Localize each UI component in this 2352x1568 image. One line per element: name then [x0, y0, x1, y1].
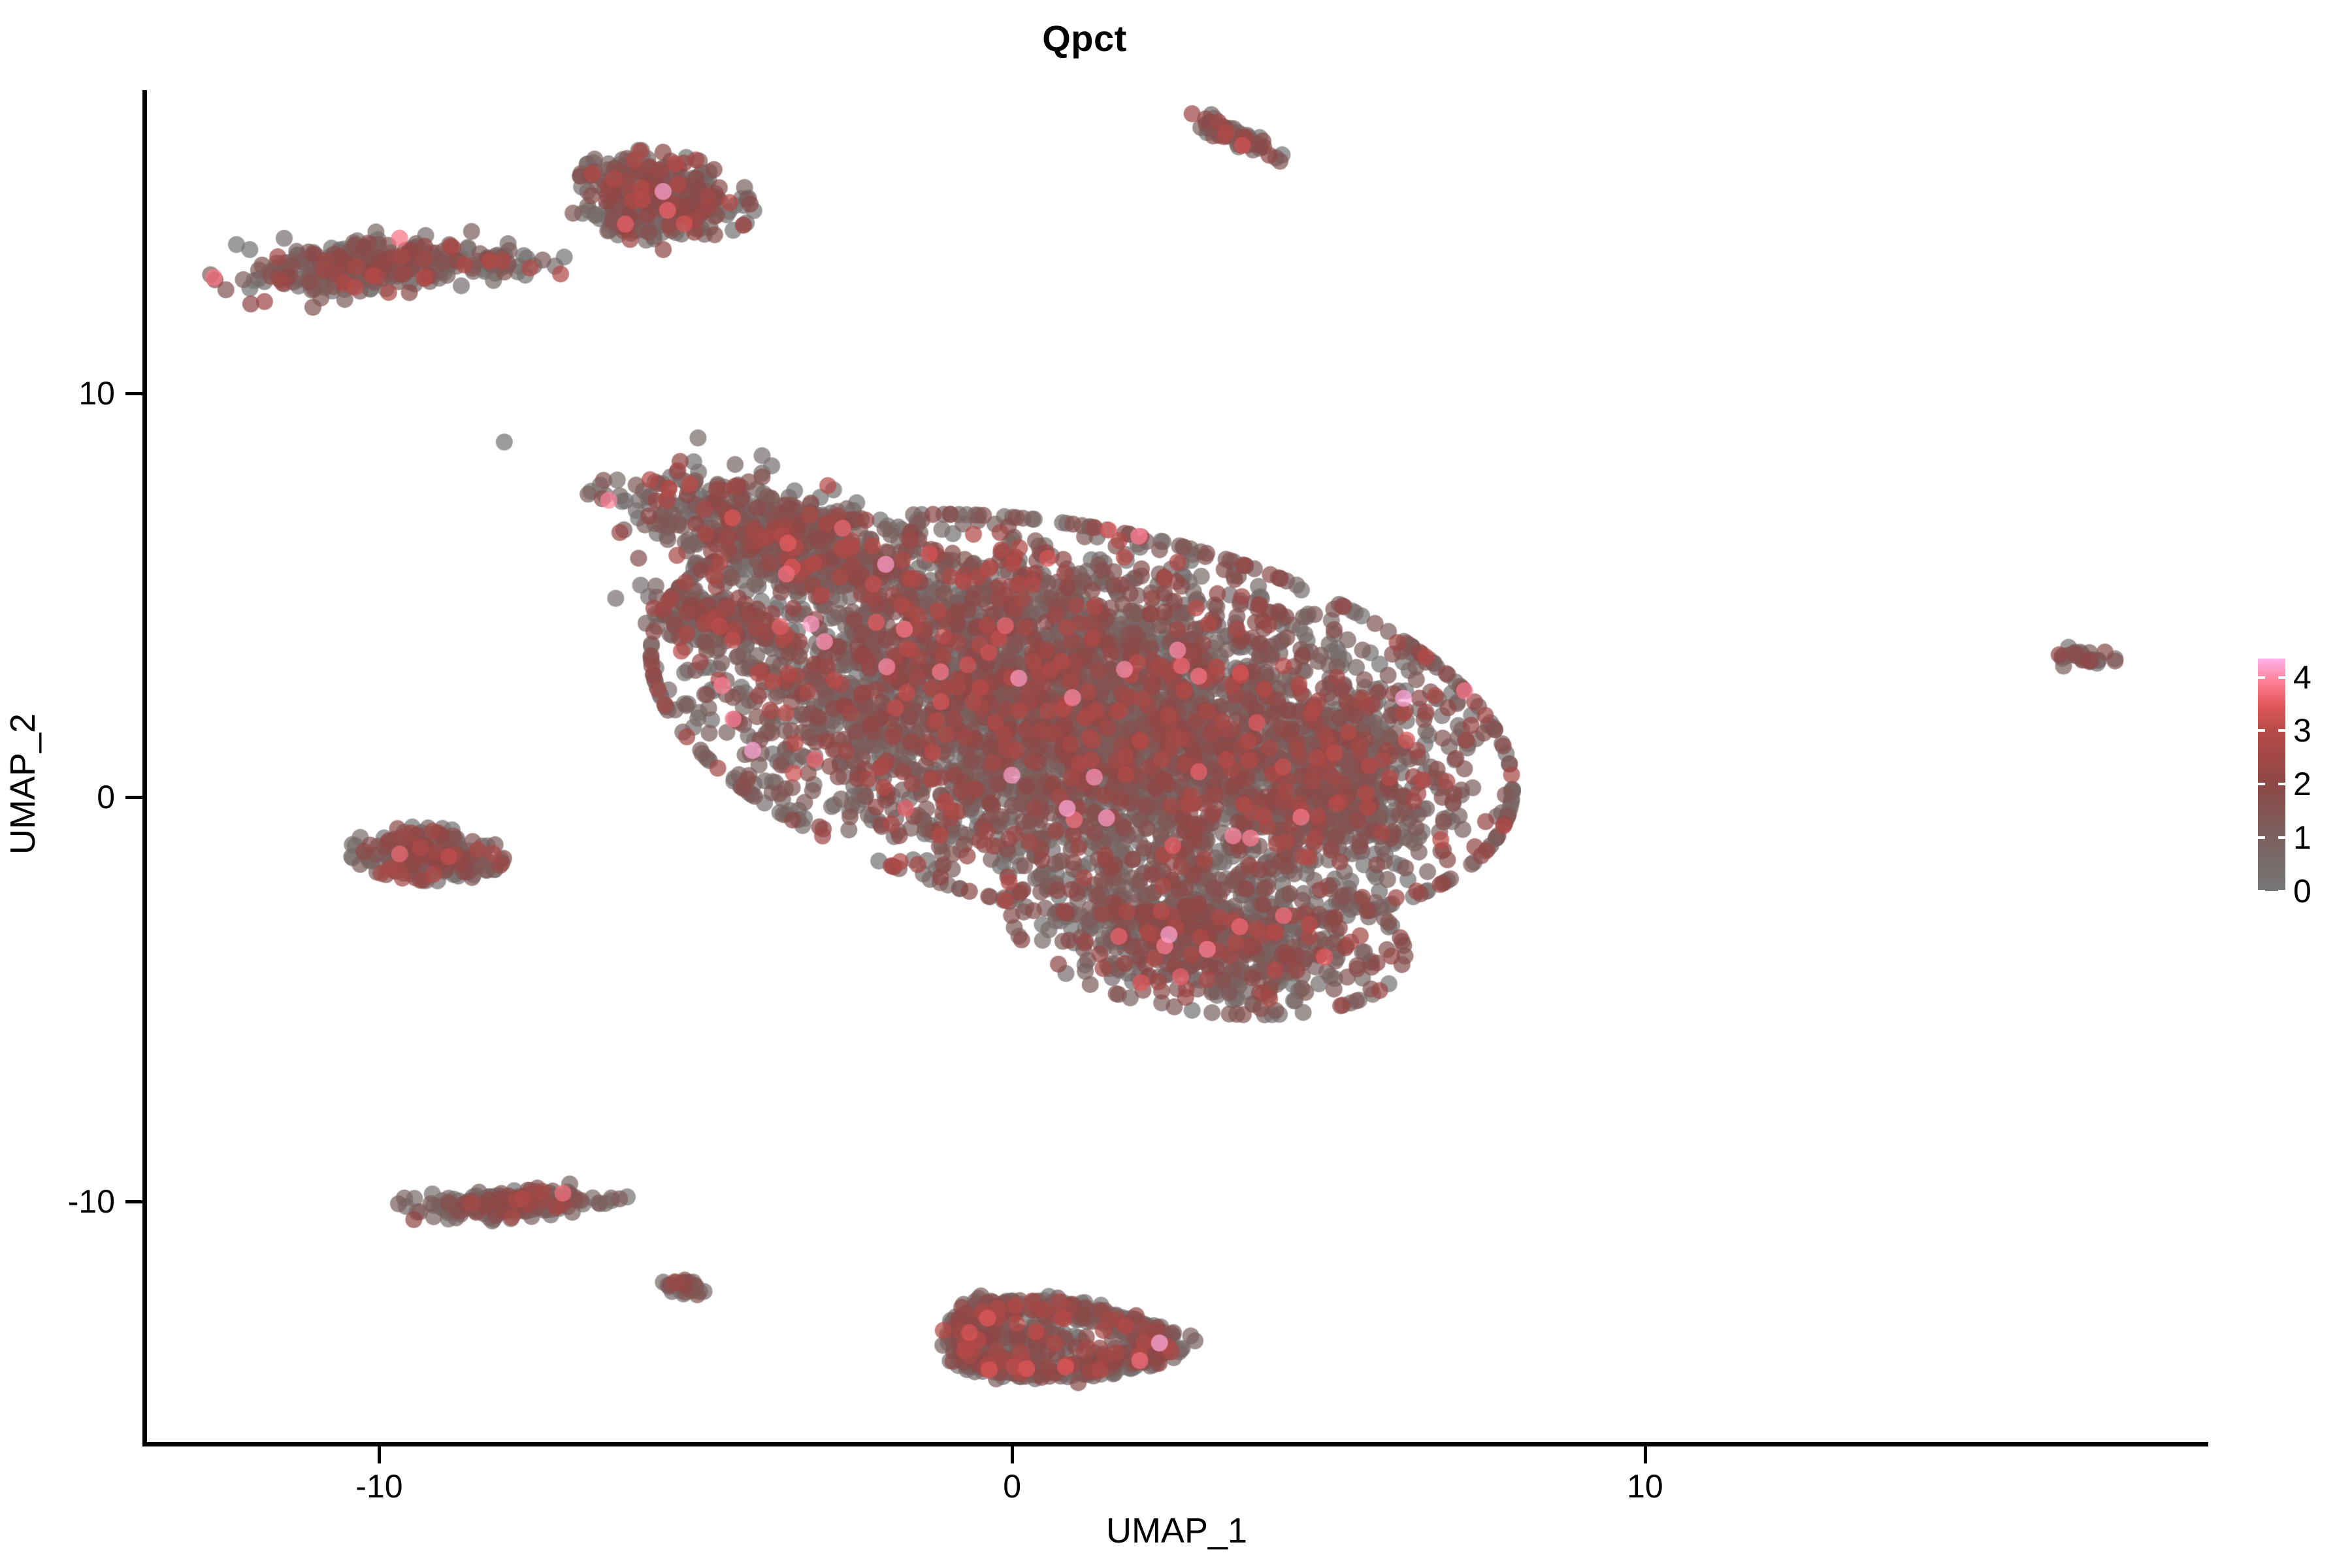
- x-axis-line: [142, 1442, 2208, 1446]
- colorbar: [2258, 659, 2285, 891]
- x-axis-title: UMAP_1: [145, 1511, 2208, 1551]
- y-axis-title: UMAP_2: [0, 0, 46, 1568]
- colorbar-tick-mark: [2258, 783, 2265, 785]
- x-tick-mark: [1644, 1446, 1647, 1463]
- scatter-points-canvas: [145, 90, 2208, 1444]
- y-tick-label: 10: [78, 374, 115, 412]
- y-tick-mark: [125, 796, 142, 799]
- chart-root: Qpct -10010 -10010 UMAP_1 UMAP_2 01234: [0, 0, 2352, 1568]
- colorbar-tick-label: 1: [2293, 819, 2311, 857]
- x-tick-mark: [378, 1446, 381, 1463]
- plot-panel: [145, 90, 2208, 1444]
- x-tick-mark: [1011, 1446, 1014, 1463]
- colorbar-tick-mark: [2278, 836, 2285, 839]
- colorbar-tick-mark: [2258, 676, 2265, 679]
- colorbar-tick-label: 2: [2293, 765, 2311, 803]
- colorbar-legend: 01234: [2258, 659, 2343, 907]
- colorbar-tick-label: 3: [2293, 711, 2311, 749]
- x-tick-label: -10: [355, 1467, 402, 1505]
- colorbar-tick-mark: [2258, 729, 2265, 732]
- y-tick-mark: [125, 1200, 142, 1203]
- colorbar-tick-mark: [2278, 783, 2285, 785]
- colorbar-gradient: [2258, 659, 2285, 891]
- x-tick-label: 0: [1003, 1467, 1021, 1505]
- colorbar-tick-mark: [2258, 836, 2265, 839]
- colorbar-tick-mark: [2258, 890, 2265, 892]
- colorbar-tick-label: 4: [2293, 659, 2311, 696]
- colorbar-tick-mark: [2278, 676, 2285, 679]
- y-tick-label: -10: [68, 1183, 115, 1220]
- y-tick-mark: [125, 392, 142, 395]
- colorbar-tick-mark: [2278, 729, 2285, 732]
- x-tick-label: 10: [1627, 1467, 1663, 1505]
- colorbar-tick-mark: [2278, 890, 2285, 892]
- y-tick-label: 0: [97, 778, 115, 816]
- y-axis-line: [142, 90, 147, 1446]
- page-title: Qpct: [0, 17, 2169, 59]
- colorbar-tick-label: 0: [2293, 872, 2311, 910]
